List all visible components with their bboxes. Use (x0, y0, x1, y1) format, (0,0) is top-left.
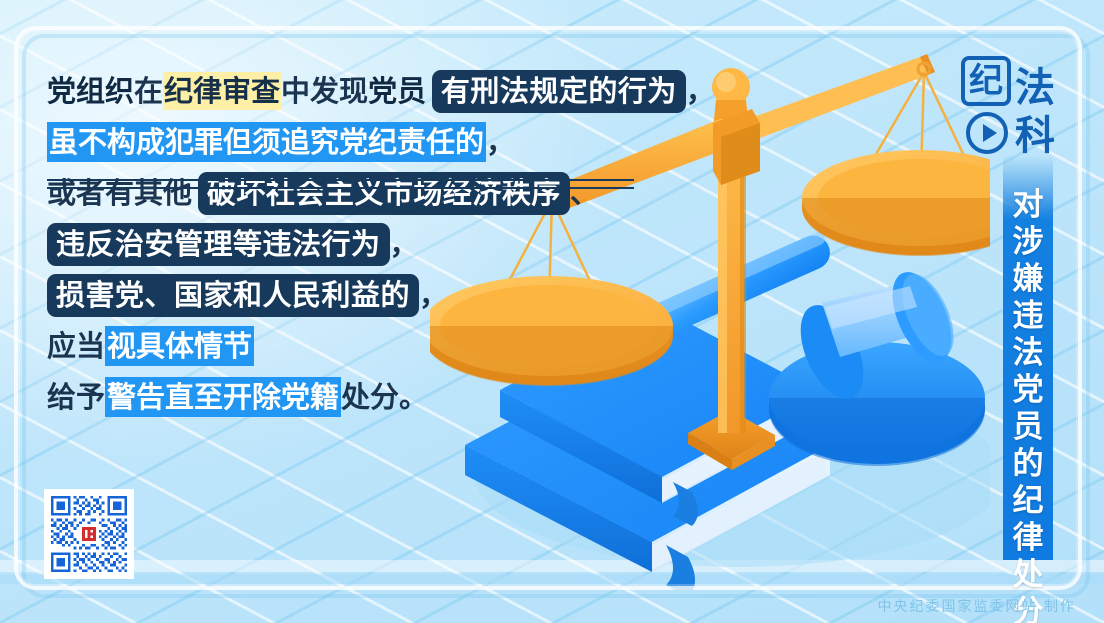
text-line-6: 应当视具体情节 (47, 321, 667, 372)
seg-criminal-law-conduct-pill: 有刑法规定的行为 (432, 70, 686, 113)
banner-char-0: 对 (1013, 187, 1044, 224)
banner-char-5: 党 (1013, 372, 1044, 409)
seg-not-crime-but-party-liability: 虽不构成犯罪但须追究党纪责任的 (47, 122, 486, 162)
text-line-4: 违反治安管理等违法行为， (47, 219, 667, 270)
credit-line: 中央纪委国家监委网站 制作 (878, 596, 1076, 616)
seg-comma-4: ， (390, 227, 419, 261)
text-line-2: 虽不构成犯罪但须追究党纪责任的， (47, 117, 667, 168)
seg-case-circumstances: 视具体情节 (105, 326, 254, 366)
banner-char-7: 的 (1013, 446, 1044, 483)
seg-harm-interests-pill: 损害党、国家和人民利益的 (47, 274, 419, 317)
seg-discipline-review-highlight: 纪律审查 (163, 72, 281, 110)
seg-comma-1: ， (686, 74, 715, 108)
seg-discovered: 中发现 (281, 74, 368, 108)
seg-warning-to-expulsion: 警告直至开除党籍 (105, 377, 341, 417)
seg-market-order-pill: 破坏社会主义市场经济秩序 (198, 172, 570, 215)
seg-enum-comma: 、 (570, 176, 599, 210)
qr-code-image (48, 493, 130, 575)
seg-party-member: 党员 (368, 74, 426, 108)
seg-at: 在 (134, 74, 163, 108)
qr-center-seal (82, 527, 96, 541)
banner-char-10: 处 (1013, 557, 1044, 594)
seg-should: 应当 (47, 329, 105, 363)
poster-canvas: 党组织在纪律审查中发现党员 有刑法规定的行为， 虽不构成犯罪但须追究党纪责任的，… (0, 0, 1104, 623)
vertical-title-banner: 对涉嫌违法党员的纪律处分 (1003, 155, 1053, 560)
seg-party-org: 党组织 (47, 74, 134, 108)
play-circle-icon (966, 112, 1008, 154)
logo-char-fa: 法 (1015, 66, 1055, 110)
text-line-7: 给予警告直至开除党籍处分。 (47, 372, 667, 423)
banner-char-9: 律 (1013, 520, 1044, 557)
banner-char-8: 纪 (1013, 483, 1044, 520)
brand-logo[interactable]: 纪 法 科 (957, 52, 1069, 164)
body-text-block: 党组织在纪律审查中发现党员 有刑法规定的行为， 虽不构成犯罪但须追究党纪责任的，… (47, 66, 667, 423)
banner-char-3: 违 (1013, 298, 1044, 335)
text-line-3: 或者有其他 破坏社会主义市场经济秩序、 (47, 168, 667, 219)
banner-char-2: 嫌 (1013, 261, 1044, 298)
seg-punishment: 处分。 (341, 380, 428, 414)
seg-comma-5: ， (419, 278, 448, 312)
seg-public-security-pill: 违反治安管理等违法行为 (47, 223, 390, 266)
logo-char-ji: 纪 (961, 56, 1011, 106)
text-line-5: 损害党、国家和人民利益的， (47, 270, 667, 321)
seg-comma-2: ， (486, 125, 515, 159)
banner-char-6: 员 (1013, 409, 1044, 446)
banner-char-1: 涉 (1013, 224, 1044, 261)
seg-give: 给予 (47, 380, 105, 414)
banner-char-4: 法 (1013, 335, 1044, 372)
qr-code[interactable] (44, 489, 134, 579)
text-line-1: 党组织在纪律审查中发现党员 有刑法规定的行为， (47, 66, 667, 117)
logo-char-ke: 科 (1015, 114, 1055, 158)
seg-or-other: 或者有其他 (47, 176, 192, 210)
